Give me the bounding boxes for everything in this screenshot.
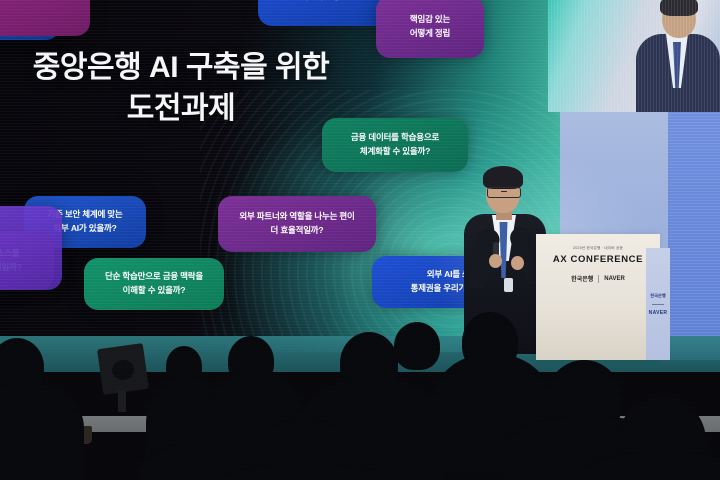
side-banner-divider [652,304,664,305]
speech-bubble-magenta-top [0,0,90,36]
conference-stage-photo: 중앙은행 AI 구축을 위한 도전과제 ? 데이터 가공은 핵임감 있는 어떻게… [0,0,720,480]
sub-figure-shirt [666,34,688,88]
bubble-text-line-2: 더 효율적일까? [239,224,354,238]
title-line-1: 중앙은행 AI 구축을 위한 [33,51,329,84]
speaker-right-hand [511,256,524,270]
page-title: 중앙은행 AI 구축을 위한 도전과제 [16,48,346,129]
speaker-name-badge [504,278,513,292]
podium-logo-bok: 한국은행 [571,274,593,283]
sub-figure-torso [636,34,720,112]
stage-monitor-stand [118,390,126,412]
bubble-text-line-2: 어떻게 정립 [410,27,450,41]
podium-title: AX CONFERENCE [536,254,660,265]
bubble-text-line-1: 단순 학습만으로 금융 맥락을 [105,270,203,284]
logo-divider [598,275,599,283]
bubble-text-line-2: 이해할 수 있을까? [105,284,203,298]
speech-bubble-violet-left [0,206,62,290]
podium-logo-row: 한국은행 NAVER [536,274,660,283]
speech-bubble-purple-middle: 외부 파트너와 역할을 나누는 편이 더 효율적일까? [218,196,376,252]
speaker-left-hand [489,254,502,268]
speech-bubble-top-middle: 데이터 가공은 [258,0,390,26]
glasses-icon [487,187,521,198]
podium-logo-naver: NAVER [604,276,625,282]
audience-shoulders [0,382,84,480]
speech-bubble-green-lower: 단순 학습만으로 금융 맥락을 이해할 수 있을까? [84,258,224,310]
sub-figure-tie [673,42,681,88]
side-banner-logo-naver: NAVER [649,310,668,316]
bubble-text-line-1: 금융 데이터를 학습용으로 [351,131,439,145]
title-line-2: 도전과제 [16,89,346,130]
bubble-text: 데이터 가공은 [300,0,348,4]
stage-monitor-speaker [97,343,149,395]
side-banner-logo-bok: 한국은행 [650,293,665,299]
audience-head [394,322,440,370]
sub-screen-speaker-figure [634,4,720,112]
speech-bubble-green-middle: 금융 데이터를 학습용으로 체계화할 수 있을까? [322,118,468,172]
podium-subtitle: 2025년 한국은행 · 네이버 공동 [536,246,660,251]
bubble-text-line-1: 외부 파트너와 역할을 나누는 편이 [239,210,354,224]
secondary-led-screen [548,0,720,112]
wall-panel-blue [668,112,720,360]
sub-figure-hair [660,0,698,16]
speaker-hair [483,166,523,189]
bubble-text-line-1: 핵임감 있는 [410,13,450,27]
speech-bubble-purple-top: 핵임감 있는 어떻게 정립 [376,0,484,58]
sub-figure-head [662,0,696,38]
audience-foreground [0,330,720,480]
bubble-text-line-2: 체계화할 수 있을까? [351,145,439,159]
